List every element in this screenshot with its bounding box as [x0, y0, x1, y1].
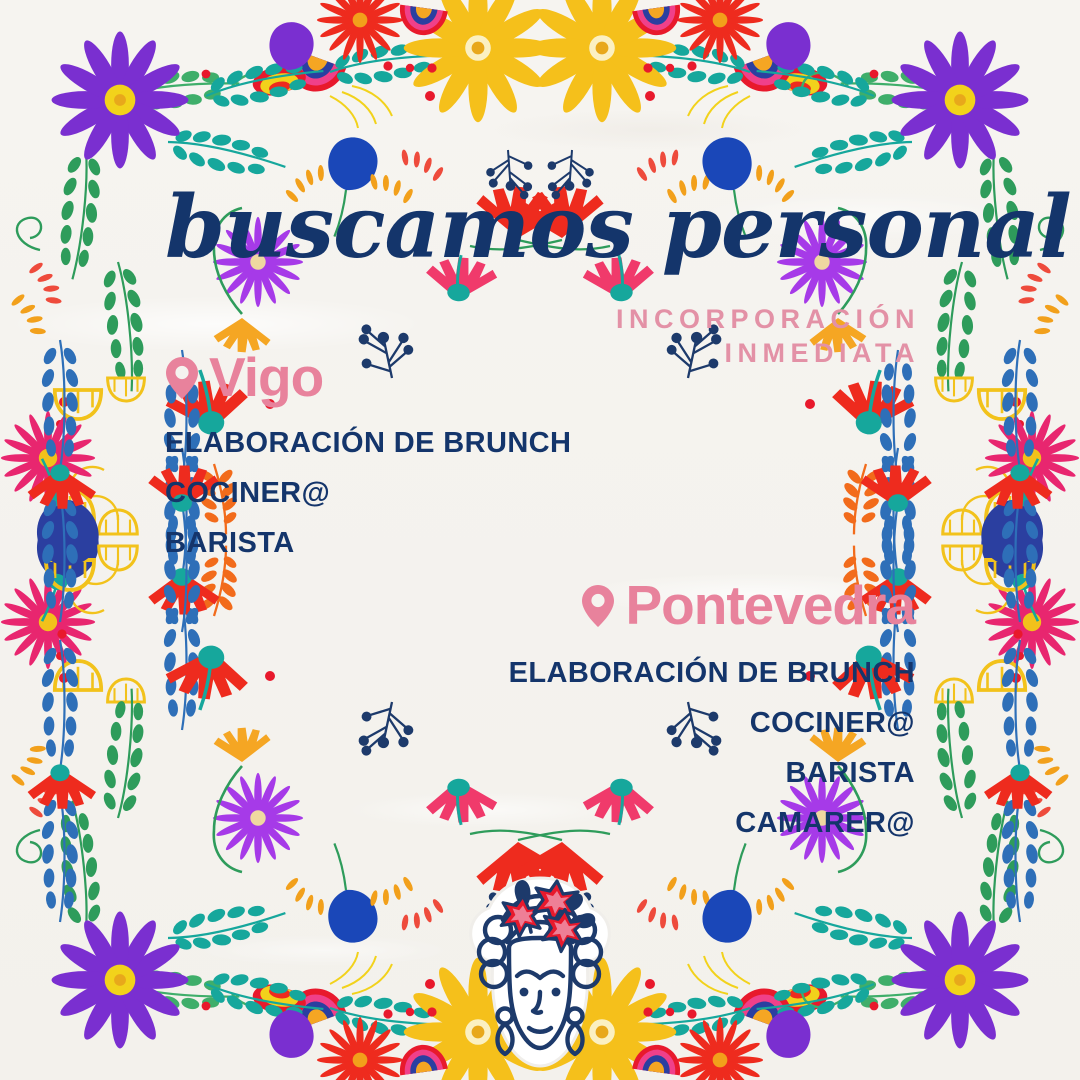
frida-kahlo-logo — [461, 872, 619, 1072]
location-pin-icon — [165, 355, 199, 401]
role-list-pontevedra: ELABORACIÓN DE BRUNCH COCINER@ BARISTA C… — [509, 649, 915, 849]
role-item: COCINER@ — [165, 469, 571, 519]
city-heading-pontevedra: Pontevedra — [509, 578, 915, 633]
city-name-pontevedra: Pontevedra — [625, 578, 915, 633]
city-block-pontevedra: Pontevedra ELABORACIÓN DE BRUNCH COCINER… — [509, 578, 915, 849]
city-name-vigo: Vigo — [209, 350, 323, 405]
role-item: COCINER@ — [509, 699, 915, 749]
role-item: BARISTA — [165, 519, 571, 569]
city-block-vigo: Vigo ELABORACIÓN DE BRUNCH COCINER@ BARI… — [165, 350, 571, 569]
role-item: CAMARER@ — [509, 799, 915, 849]
role-item: ELABORACIÓN DE BRUNCH — [165, 419, 571, 469]
role-item: ELABORACIÓN DE BRUNCH — [509, 649, 915, 699]
page-title: buscamos personal — [165, 185, 945, 271]
role-item: BARISTA — [509, 749, 915, 799]
poster-canvas: buscamos personal INCORPORACIÓN INMEDIAT… — [0, 0, 1080, 1080]
poster-content: buscamos personal INCORPORACIÓN INMEDIAT… — [0, 0, 1080, 1080]
location-pin-icon — [581, 583, 615, 629]
role-list-vigo: ELABORACIÓN DE BRUNCH COCINER@ BARISTA — [165, 419, 571, 569]
subtitle-line-1: INCORPORACIÓN — [320, 303, 920, 337]
city-heading-vigo: Vigo — [165, 350, 571, 405]
